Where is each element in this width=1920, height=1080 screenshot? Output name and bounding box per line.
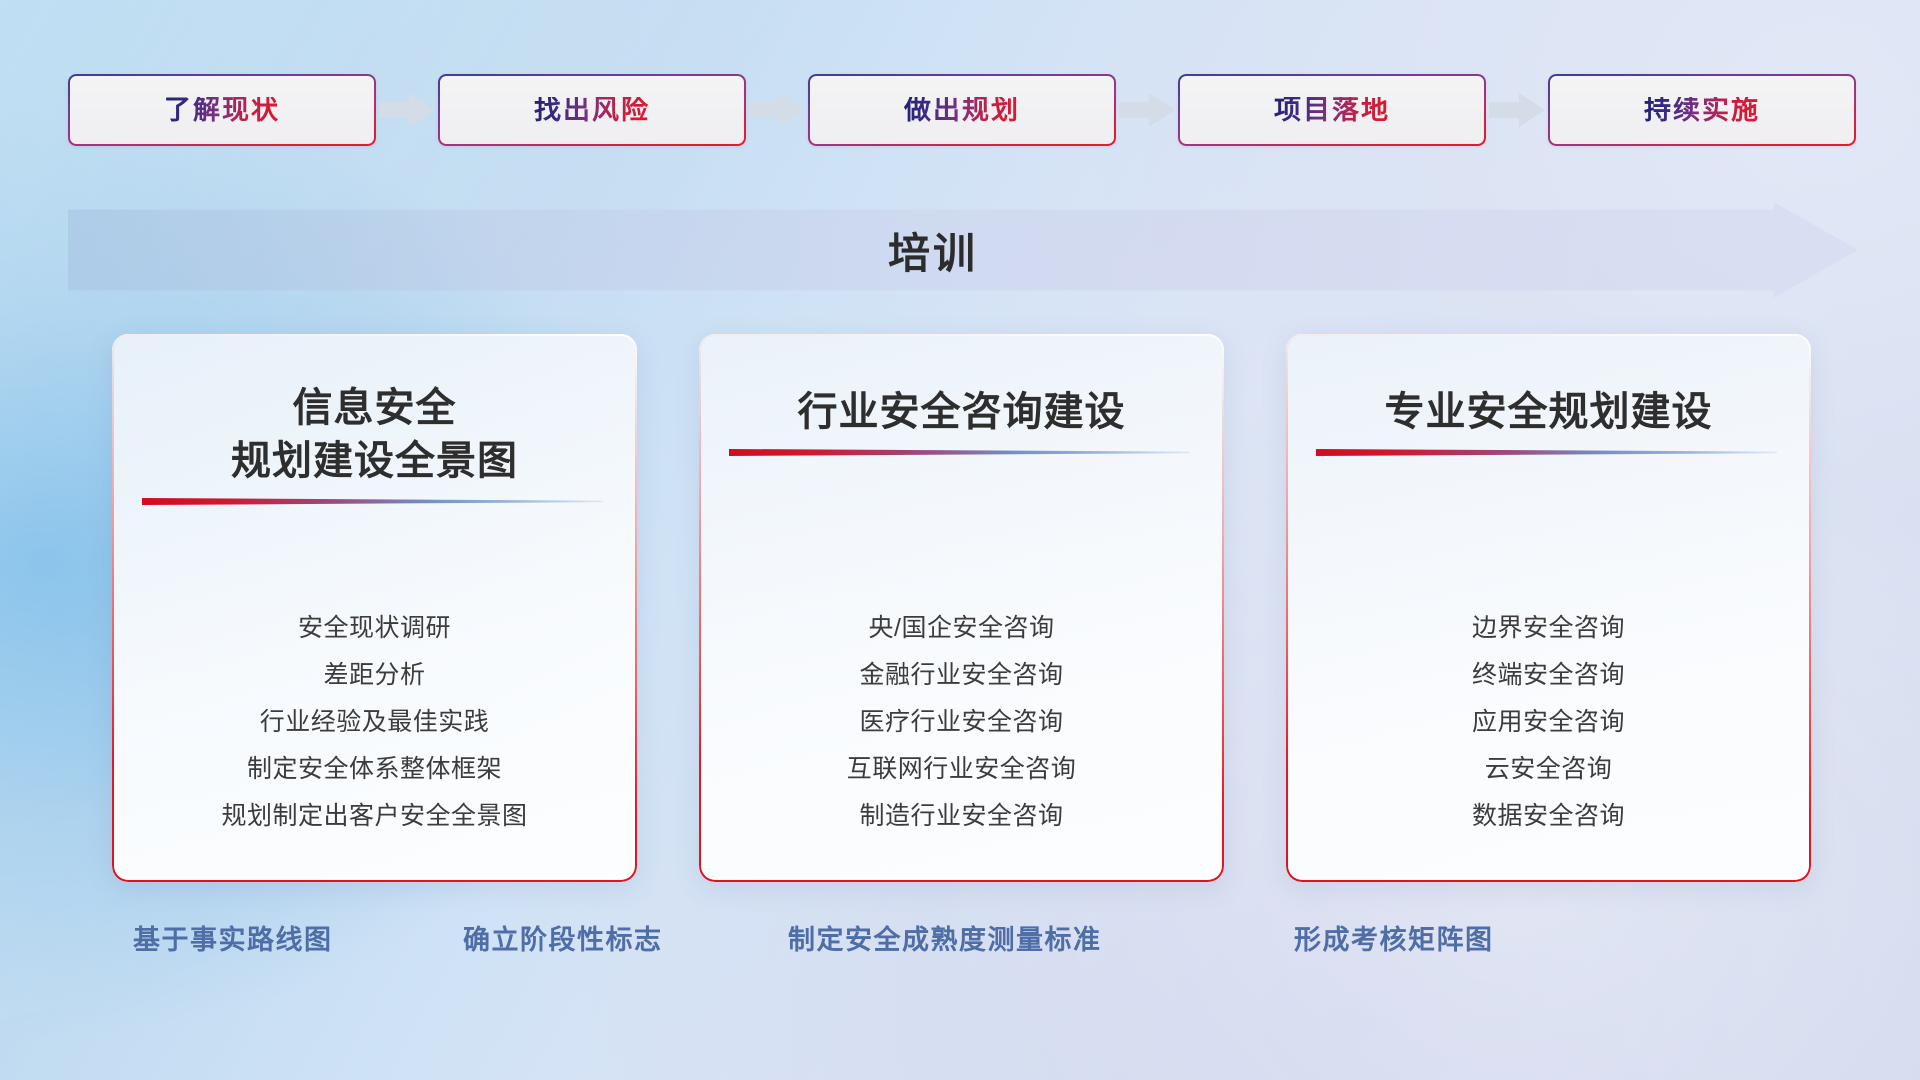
step-arrow-icon-2 (746, 90, 808, 130)
step-arrow-icon-1 (376, 90, 438, 130)
card-item-list: 央/国企安全咨询 金融行业安全咨询 医疗行业安全咨询 互联网行业安全咨询 制造行… (699, 605, 1224, 840)
list-item: 行业经验及最佳实践 (130, 699, 619, 746)
caption-assessment-matrix: 形成考核矩阵图 (1294, 918, 1494, 957)
cards-row: 信息安全 规划建设全景图 (112, 334, 1812, 882)
step-chip-3[interactable]: 做出规划 (808, 74, 1116, 146)
caption-maturity-standard: 制定安全成熟度测量标准 (788, 918, 1102, 957)
step-chip-2[interactable]: 找出风险 (438, 74, 746, 146)
process-steps: 了解现状 找出风险 做出规划 项目落地 (68, 74, 1858, 146)
step-arrow-icon-3 (1116, 90, 1178, 130)
step-chip-label: 找出风险 (534, 97, 650, 124)
step-chip-1[interactable]: 了解现状 (68, 74, 376, 146)
card-divider (1286, 439, 1811, 473)
step-chip-label: 项目落地 (1274, 97, 1390, 124)
step-arrow-icon-4 (1486, 90, 1548, 130)
tapered-rule-icon (1316, 447, 1777, 459)
list-item: 医疗行业安全咨询 (717, 699, 1206, 746)
card-professional-security-planning[interactable]: 专业安全规划建设 (1286, 334, 1811, 882)
card-title: 专业安全规划建设 (1363, 386, 1735, 439)
card-title-line: 专业安全规划建设 (1385, 386, 1713, 439)
training-banner: 培训 (68, 202, 1858, 298)
card-divider (112, 488, 637, 522)
bottom-captions: 基于事实路线图 确立阶段性标志 制定安全成熟度测量标准 形成考核矩阵图 (0, 918, 1920, 962)
banner-title: 培训 (68, 202, 1858, 298)
card-title-line: 规划建设全景图 (231, 435, 518, 488)
slide-canvas: 了解现状 找出风险 做出规划 项目落地 (0, 0, 1920, 1080)
step-chip-5[interactable]: 持续实施 (1548, 74, 1856, 146)
list-item: 差距分析 (130, 652, 619, 699)
list-item: 制造行业安全咨询 (717, 793, 1206, 840)
list-item: 终端安全咨询 (1304, 652, 1793, 699)
step-chip-label: 做出规划 (904, 97, 1020, 124)
list-item: 边界安全咨询 (1304, 605, 1793, 652)
card-title-line: 信息安全 (231, 382, 518, 435)
step-chip-4[interactable]: 项目落地 (1178, 74, 1486, 146)
list-item: 应用安全咨询 (1304, 699, 1793, 746)
list-item: 制定安全体系整体框架 (130, 746, 619, 793)
list-item: 云安全咨询 (1304, 746, 1793, 793)
tapered-rule-icon (729, 447, 1190, 459)
card-info-security-blueprint[interactable]: 信息安全 规划建设全景图 (112, 334, 637, 882)
list-item: 互联网行业安全咨询 (717, 746, 1206, 793)
tapered-rule-icon (142, 496, 603, 508)
caption-milestones: 确立阶段性标志 (463, 918, 663, 957)
card-title: 行业安全咨询建设 (776, 386, 1148, 439)
list-item: 安全现状调研 (130, 605, 619, 652)
list-item: 央/国企安全咨询 (717, 605, 1206, 652)
step-chip-label: 持续实施 (1644, 97, 1760, 124)
list-item: 数据安全咨询 (1304, 793, 1793, 840)
caption-roadmap: 基于事实路线图 (133, 918, 333, 957)
list-item: 金融行业安全咨询 (717, 652, 1206, 699)
card-item-list: 安全现状调研 差距分析 行业经验及最佳实践 制定安全体系整体框架 规划制定出客户… (112, 605, 637, 840)
card-divider (699, 439, 1224, 473)
card-title: 信息安全 规划建设全景图 (209, 382, 540, 488)
list-item: 规划制定出客户安全全景图 (130, 793, 619, 840)
card-item-list: 边界安全咨询 终端安全咨询 应用安全咨询 云安全咨询 数据安全咨询 (1286, 605, 1811, 840)
card-industry-security-consulting[interactable]: 行业安全咨询建设 (699, 334, 1224, 882)
card-title-line: 行业安全咨询建设 (798, 386, 1126, 439)
step-chip-label: 了解现状 (164, 97, 280, 124)
